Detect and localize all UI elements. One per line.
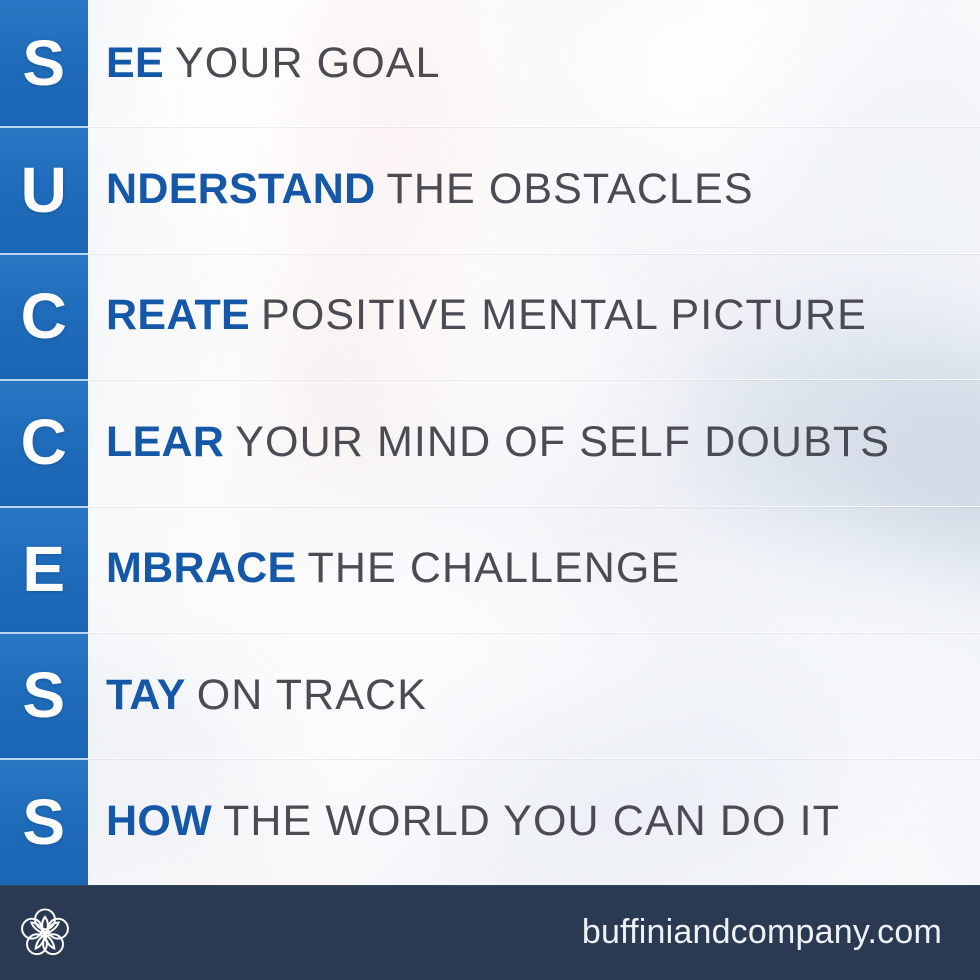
acronym-row-list: S EE YOUR GOAL U NDERSTAND THE OBSTACLES… (0, 0, 980, 885)
letter-tile-s-3: S (0, 758, 88, 884)
row-divider (88, 632, 980, 633)
row-divider (88, 379, 980, 380)
letter-glyph: C (21, 284, 68, 348)
row-rest-text: ON TRACK (197, 674, 427, 717)
acronym-row: C REATE POSITIVE MENTAL PICTURE (0, 253, 980, 379)
row-text: NDERSTAND THE OBSTACLES (88, 168, 754, 211)
row-lead-word: REATE (106, 294, 250, 337)
row-divider (88, 126, 980, 127)
letter-glyph: S (22, 790, 65, 854)
letter-tile-u: U (0, 126, 88, 252)
acronym-row: S EE YOUR GOAL (0, 0, 980, 126)
row-rest-text: THE CHALLENGE (308, 547, 681, 590)
row-lead-word: LEAR (106, 421, 224, 464)
letter-glyph: S (22, 31, 65, 95)
row-divider (88, 758, 980, 759)
letter-tile-s-1: S (0, 0, 88, 126)
row-text: EE YOUR GOAL (88, 42, 441, 85)
row-text: REATE POSITIVE MENTAL PICTURE (88, 294, 867, 337)
acronym-row: S TAY ON TRACK (0, 632, 980, 758)
row-divider (88, 253, 980, 254)
letter-tile-c-1: C (0, 253, 88, 379)
row-lead-word: NDERSTAND (106, 168, 375, 211)
letter-glyph: S (22, 663, 65, 727)
row-lead-word: TAY (106, 674, 186, 717)
row-lead-word: HOW (106, 800, 212, 843)
acronym-row: S HOW THE WORLD YOU CAN DO IT (0, 758, 980, 884)
letter-glyph: C (21, 410, 68, 474)
letter-glyph: E (22, 537, 65, 601)
row-lead-word: MBRACE (106, 547, 297, 590)
five-petal-flower-logo-icon (14, 902, 76, 964)
letter-tile-e: E (0, 506, 88, 632)
row-text: HOW THE WORLD YOU CAN DO IT (88, 800, 840, 843)
footer-website-url[interactable]: buffiniandcompany.com (582, 913, 942, 952)
row-text: MBRACE THE CHALLENGE (88, 547, 680, 590)
row-divider (88, 506, 980, 507)
row-rest-text: POSITIVE MENTAL PICTURE (261, 294, 867, 337)
row-rest-text: THE WORLD YOU CAN DO IT (223, 800, 840, 843)
letter-tile-c-2: C (0, 379, 88, 505)
acronym-row: C LEAR YOUR MIND OF SELF DOUBTS (0, 379, 980, 505)
footer-bar: buffiniandcompany.com (0, 885, 980, 980)
acronym-row: E MBRACE THE CHALLENGE (0, 506, 980, 632)
acronym-row: U NDERSTAND THE OBSTACLES (0, 126, 980, 252)
row-text: TAY ON TRACK (88, 674, 427, 717)
success-acronym-poster: S EE YOUR GOAL U NDERSTAND THE OBSTACLES… (0, 0, 980, 980)
row-lead-word: EE (106, 42, 164, 85)
row-rest-text: YOUR MIND OF SELF DOUBTS (235, 421, 890, 464)
row-rest-text: THE OBSTACLES (386, 168, 753, 211)
row-rest-text: YOUR GOAL (175, 42, 441, 85)
letter-tile-s-2: S (0, 632, 88, 758)
letter-glyph: U (21, 158, 68, 222)
row-text: LEAR YOUR MIND OF SELF DOUBTS (88, 421, 890, 464)
